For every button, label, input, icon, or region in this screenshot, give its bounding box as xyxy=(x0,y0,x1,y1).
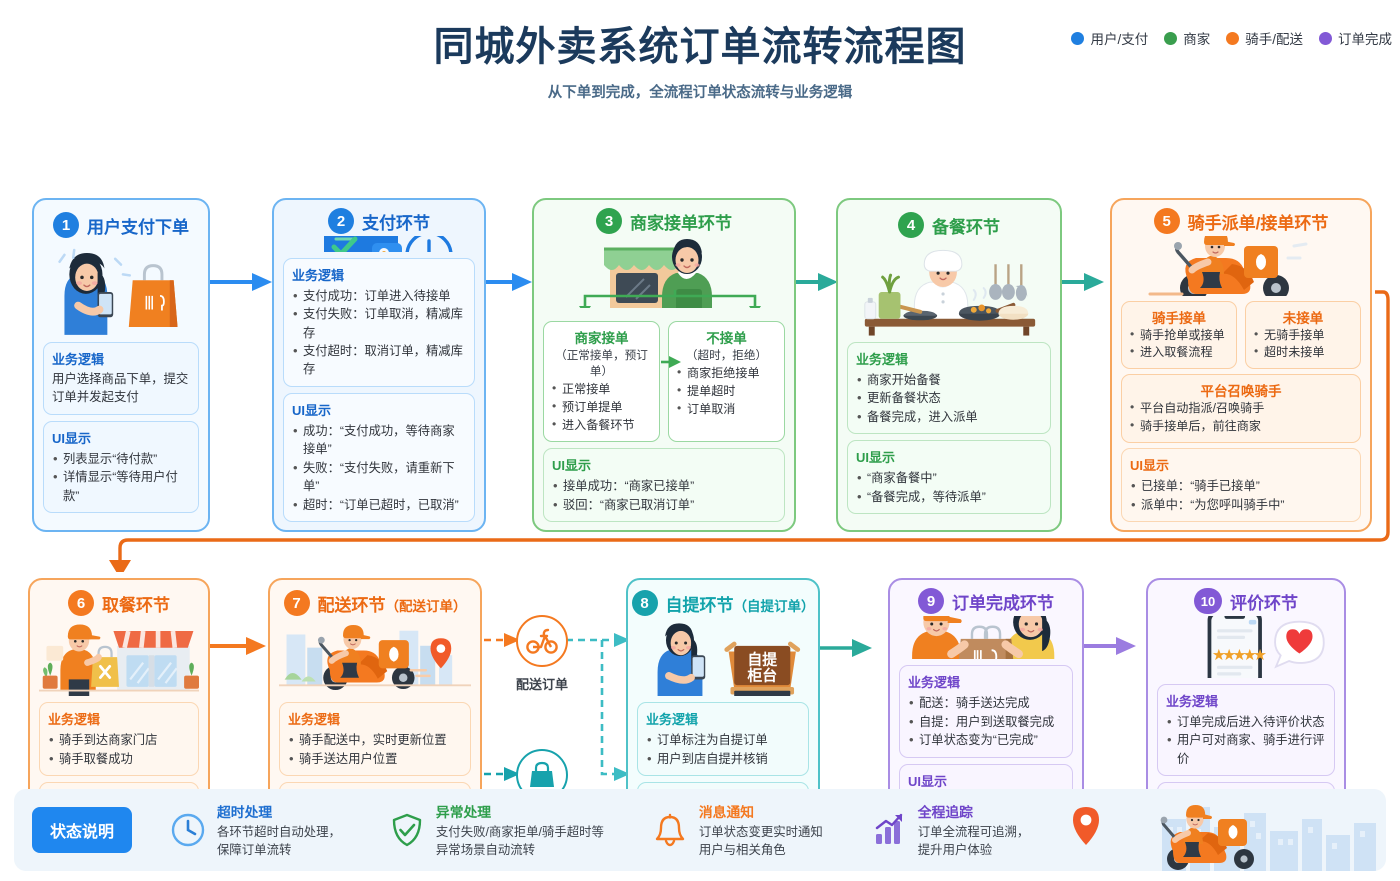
card-header: 9 订单完成环节 xyxy=(899,588,1073,614)
subbox-list: 骑手抢单或接单 进入取餐流程 xyxy=(1129,327,1229,363)
subbox-platform-call-rider[interactable]: 平台召唤骑手 平台自动指派/召唤骑手 骑手接单后，前往商家 xyxy=(1121,374,1361,443)
list-item: 用户可对商家、骑手进行评价 xyxy=(1166,731,1326,768)
list-item: 超时未接单 xyxy=(1253,344,1353,362)
legend-label: 骑手/配送 xyxy=(1245,28,1303,48)
ui-display-panel: UI显示 成功：“支付成功，等待商家接单” 失败：“支付失败，请重新下单” 超时… xyxy=(283,393,475,522)
list-item: 备餐完成，进入派单 xyxy=(856,408,1042,426)
illustration-user-ordering xyxy=(43,244,199,336)
card-title: 骑手派单/接单环节 xyxy=(1188,209,1329,234)
footer-item-desc: 订单全流程可追溯， 提升用户体验 xyxy=(918,824,1030,858)
list-item: 订单完成后进入待评价状态 xyxy=(1166,713,1326,731)
legend-item-completed: 订单完成 xyxy=(1319,28,1392,48)
card-header: 2 支付环节 xyxy=(283,208,475,234)
footer-status-bar: 状态说明 超时处理 各环节超时自动处理， 保障订单流转 异常处理 支付失败/商家… xyxy=(14,789,1386,871)
clock-icon xyxy=(170,812,206,848)
step-badge: 10 xyxy=(1194,588,1222,614)
logic-list: 配送：骑手送达完成 自提：用户到送取餐完成 订单状态变为“已完成” xyxy=(908,694,1064,749)
legend: 用户/支付 商家 骑手/配送 订单完成 xyxy=(1071,28,1392,48)
card-header: 10 评价环节 xyxy=(1157,588,1335,614)
subbox-title: 骑手接单 xyxy=(1129,307,1229,327)
list-item: 支付失败：订单取消，精减库存 xyxy=(292,305,466,342)
footer-item-desc: 各环节超时自动处理， 保障订单流转 xyxy=(217,824,341,858)
list-item: 支付成功：订单进入待接单 xyxy=(292,287,466,305)
card-title: 配送环节（配送订单） xyxy=(318,591,467,616)
step-badge: 4 xyxy=(898,212,924,238)
orange-dot-icon xyxy=(1226,32,1239,45)
illustration-chef-cooking xyxy=(847,244,1051,336)
legend-label: 用户/支付 xyxy=(1090,28,1148,48)
list-item: 订单标注为自提订单 xyxy=(646,731,800,749)
list-item: 骑手到达商家门店 xyxy=(48,731,190,749)
illustration-merchant-shop xyxy=(543,237,785,309)
list-item: “商家备餐中” xyxy=(856,469,1042,487)
list-item: 进入备餐环节 xyxy=(551,417,652,435)
status-pill[interactable]: 状态说明 xyxy=(32,807,132,853)
logic-list: 商家开始备餐 更新备餐状态 备餐完成，进入派单 xyxy=(856,371,1042,426)
panel-title: UI显示 xyxy=(52,428,190,447)
subbox-list: 商家拒绝接单 提单超时 订单取消 xyxy=(676,365,777,419)
shield-check-icon xyxy=(389,812,425,848)
list-item: 提单超时 xyxy=(676,383,777,401)
branch-label: 配送订单 xyxy=(497,674,587,693)
ui-list: 已接单：“骑手已接单” 派单中：“为您呼叫骑手中” xyxy=(1130,477,1352,514)
panel-title: UI显示 xyxy=(856,447,1042,466)
illustration-rider-scooter xyxy=(1121,236,1361,296)
business-logic-panel: 业务逻辑 支付成功：订单进入待接单 支付失败：订单取消，精减库存 支付超时：取消… xyxy=(283,258,475,387)
business-logic-panel: 业务逻辑 订单标注为自提订单 用户到店自提并核销 xyxy=(637,702,809,776)
connector-1-to-2 xyxy=(206,270,276,294)
logic-list: 骑手配送中，实时更新位置 骑手送达用户位置 xyxy=(288,731,462,768)
subbox-title: 未接单 xyxy=(1253,307,1353,327)
card-title: 支付环节 xyxy=(362,209,430,234)
panel-title: UI显示 xyxy=(552,455,776,474)
ui-display-panel: UI显示 接单成功：“商家已接单” 驳回：“商家已取消订单” xyxy=(543,448,785,522)
sign-text-2: 柜台 xyxy=(746,667,777,685)
card-title-suffix: （配送订单） xyxy=(386,599,467,614)
subbox-list: 无骑手接单 超时未接单 xyxy=(1253,327,1353,363)
card-title: 自提环节（自提订单） xyxy=(666,591,815,616)
illustration-self-pickup: 自提 柜台 xyxy=(637,620,809,696)
subbox-rider-accepted[interactable]: 骑手接单 骑手抢单或接单 进入取餐流程 xyxy=(1121,301,1237,370)
list-item: 正常接单 xyxy=(551,381,652,399)
list-item: 商家拒绝接单 xyxy=(676,365,777,383)
footer-item-title: 全程追踪 xyxy=(918,801,1030,821)
subbox-accept-order[interactable]: 商家接单 （正常接单，预订单） 正常接单 预订单提单 进入备餐环节 xyxy=(543,321,660,442)
illustration-rating-phone xyxy=(1157,616,1335,678)
card-title: 订单完成环节 xyxy=(952,589,1054,614)
panel-title: 业务逻辑 xyxy=(908,672,1064,691)
card-header: 6 取餐环节 xyxy=(39,588,199,618)
card-step-5[interactable]: 5 骑手派单/接单环节 xyxy=(1110,198,1372,532)
list-item: 骑手接单后，前往商家 xyxy=(1129,418,1353,436)
subbox-list: 平台自动指派/召唤骑手 骑手接单后，前往商家 xyxy=(1129,400,1353,436)
panel-title: 业务逻辑 xyxy=(288,709,462,728)
ui-list: “商家备餐中” “备餐完成，等待派单” xyxy=(856,469,1042,506)
list-item: 无骑手接单 xyxy=(1253,327,1353,345)
list-item: 更新备餐状态 xyxy=(856,389,1042,407)
card-header: 5 骑手派单/接单环节 xyxy=(1121,208,1361,234)
connector-2-to-3 xyxy=(486,270,536,294)
ui-list: 成功：“支付成功，等待商家接单” 失败：“支付失败，请重新下单” 超时：“订单已… xyxy=(292,422,466,514)
legend-item-rider: 骑手/配送 xyxy=(1226,28,1303,48)
list-item: 失败：“支付失败，请重新下单” xyxy=(292,459,466,496)
panel-title: 业务逻辑 xyxy=(856,349,1042,368)
card-title-suffix: （自提订单） xyxy=(734,599,815,614)
step-badge: 7 xyxy=(284,590,310,616)
list-item: 订单状态变为“已完成” xyxy=(908,731,1064,749)
step-badge: 6 xyxy=(68,590,94,616)
card-step-1[interactable]: 1 用户支付下单 xyxy=(32,198,210,532)
subbox-title: 不接单 xyxy=(676,327,777,347)
logic-list: 支付成功：订单进入待接单 支付失败：订单取消，精减库存 支付超时：取消订单，精减… xyxy=(292,287,466,379)
list-item: 进入取餐流程 xyxy=(1129,344,1229,362)
card-title-main: 配送环节 xyxy=(318,596,386,615)
ui-display-panel: UI显示 已接单：“骑手已接单” 派单中：“为您呼叫骑手中” xyxy=(1121,448,1361,522)
list-item: 列表显示“待付款” xyxy=(52,450,190,468)
card-step-2[interactable]: 2 支付环节 业务逻辑 xyxy=(272,198,486,532)
logic-list: 订单完成后进入待评价状态 用户可对商家、骑手进行评价 xyxy=(1166,713,1326,768)
step-badge: 9 xyxy=(918,588,944,614)
card-title: 用户支付下单 xyxy=(87,213,189,238)
business-logic-panel: 业务逻辑 订单完成后进入待评价状态 用户可对商家、骑手进行评价 xyxy=(1157,684,1335,776)
bar-chart-icon xyxy=(871,812,907,848)
list-item: 平台自动指派/召唤骑手 xyxy=(1129,400,1353,418)
business-logic-panel: 业务逻辑 骑手配送中，实时更新位置 骑手送达用户位置 xyxy=(279,702,471,776)
card-header: 7 配送环节（配送订单） xyxy=(279,588,471,618)
card-header: 1 用户支付下单 xyxy=(43,208,199,242)
footer-item-title: 消息通知 xyxy=(699,801,823,821)
panel-title: 业务逻辑 xyxy=(48,709,190,728)
business-logic-panel: 业务逻辑 用户选择商品下单，提交订单并发起支付 xyxy=(43,342,199,415)
footer-item-title: 超时处理 xyxy=(217,801,341,821)
subbox-list: 正常接单 预订单提单 进入备餐环节 xyxy=(551,381,652,435)
rider-decision-row: 骑手接单 骑手抢单或接单 进入取餐流程 未接单 无骑手接单 超时未接单 xyxy=(1121,301,1361,370)
list-item: 配送：骑手送达完成 xyxy=(908,694,1064,712)
merchant-decision-row: 商家接单 （正常接单，预订单） 正常接单 预订单提单 进入备餐环节 不接单 （超… xyxy=(543,321,785,442)
card-header: 3 商家接单环节 xyxy=(543,208,785,235)
flowchart-board: 1 用户支付下单 xyxy=(0,92,1400,792)
list-item: 商家开始备餐 xyxy=(856,371,1042,389)
subbox-subtitle: （正常接单，预订单） xyxy=(551,347,652,379)
panel-title: 业务逻辑 xyxy=(1166,691,1326,710)
list-item: 派单中：“为您呼叫骑手中” xyxy=(1130,496,1352,514)
card-title: 取餐环节 xyxy=(102,591,170,616)
list-item: 详情显示“等待用户付款” xyxy=(52,468,190,505)
business-logic-panel: 业务逻辑 商家开始备餐 更新备餐状态 备餐完成，进入派单 xyxy=(847,342,1051,434)
panel-title: UI显示 xyxy=(1130,455,1352,474)
step-badge: 8 xyxy=(632,590,658,616)
ui-list: 列表显示“待付款” 详情显示“等待用户付款” xyxy=(52,450,190,505)
business-logic-panel: 业务逻辑 配送：骑手送达完成 自提：用户到送取餐完成 订单状态变为“已完成” xyxy=(899,665,1073,757)
card-header: 8 自提环节（自提订单） xyxy=(637,588,809,618)
card-title-main: 自提环节 xyxy=(666,596,734,615)
green-dot-icon xyxy=(1164,32,1177,45)
list-item: 成功：“支付成功，等待商家接单” xyxy=(292,422,466,459)
illustration-delivering xyxy=(279,620,471,696)
card-title: 评价环节 xyxy=(1230,589,1298,614)
blue-dot-icon xyxy=(1071,32,1084,45)
footer-item-title: 异常处理 xyxy=(436,801,604,821)
card-step-4[interactable]: 4 备餐环节 xyxy=(836,198,1062,532)
legend-item-user: 用户/支付 xyxy=(1071,28,1148,48)
list-item: 用户到店自提并核销 xyxy=(646,750,800,768)
legend-item-merchant: 商家 xyxy=(1164,28,1210,48)
card-title: 商家接单环节 xyxy=(630,209,732,234)
list-item: 接单成功：“商家已接单” xyxy=(552,477,776,495)
list-item: 骑手配送中，实时更新位置 xyxy=(288,731,462,749)
connector-6-to-7 xyxy=(208,634,270,658)
subbox-title: 商家接单 xyxy=(551,327,652,347)
legend-label: 订单完成 xyxy=(1338,28,1392,48)
subbox-subtitle: （超时，拒绝） xyxy=(676,347,777,363)
illustration-rider-pickup xyxy=(39,620,199,696)
illustration-order-handoff xyxy=(899,616,1073,659)
list-item: 驳回：“商家已取消订单” xyxy=(552,496,776,514)
footer-item-notify: 消息通知 订单状态变更实时通知 用户与相关角色 xyxy=(652,801,823,858)
footer-item-timeout: 超时处理 各环节超时自动处理， 保障订单流转 xyxy=(170,801,341,858)
list-item: 超时：“订单已超时，已取消” xyxy=(292,496,466,514)
footer-item-desc: 订单状态变更实时通知 用户与相关角色 xyxy=(699,824,823,858)
card-step-3[interactable]: 3 商家接单环节 xyxy=(532,198,796,532)
page-header: 同城外卖系统订单流转流程图 从下单到完成，全流程订单状态流转与业务逻辑 用户/支… xyxy=(0,0,1400,92)
list-item: 自提：用户到送取餐完成 xyxy=(908,713,1064,731)
subbox-rider-not-accepted[interactable]: 未接单 无骑手接单 超时未接单 xyxy=(1245,301,1361,370)
ui-display-panel: UI显示 “商家备餐中” “备餐完成，等待派单” xyxy=(847,440,1051,514)
card-header: 4 备餐环节 xyxy=(847,208,1051,242)
subbox-reject-order[interactable]: 不接单 （超时，拒绝） 商家拒绝接单 提单超时 订单取消 xyxy=(668,321,785,442)
business-logic-panel: 业务逻辑 骑手到达商家门店 骑手取餐成功 xyxy=(39,702,199,776)
list-item: 骑手取餐成功 xyxy=(48,750,190,768)
bell-icon xyxy=(652,812,688,848)
connector-3-to-4 xyxy=(790,270,842,294)
footer-item-desc: 支付失败/商家拒单/骑手超时等 异常场景自动流转 xyxy=(436,824,604,858)
subbox-title: 平台召唤骑手 xyxy=(1129,380,1353,400)
card-title: 备餐环节 xyxy=(932,213,1000,238)
list-item: 已接单：“骑手已接单” xyxy=(1130,477,1352,495)
purple-dot-icon xyxy=(1319,32,1332,45)
list-item: “备餐完成，等待派单” xyxy=(856,488,1042,506)
list-item: 预订单提单 xyxy=(551,399,652,417)
logic-list: 骑手到达商家门店 骑手取餐成功 xyxy=(48,731,190,768)
connector-8-to-9 xyxy=(816,622,878,662)
list-item: 骑手抢单或接单 xyxy=(1129,327,1229,345)
ui-list: 接单成功：“商家已接单” 驳回：“商家已取消订单” xyxy=(552,477,776,514)
scooter-icon xyxy=(516,615,568,667)
list-item: 支付超时：取消订单，精减库存 xyxy=(292,342,466,379)
connector-9-to-10 xyxy=(1080,634,1142,658)
list-item: 骑手送达用户位置 xyxy=(288,750,462,768)
step-badge: 1 xyxy=(53,212,79,238)
step-badge: 3 xyxy=(596,208,622,234)
panel-title: 业务逻辑 xyxy=(646,709,800,728)
panel-title: 业务逻辑 xyxy=(52,349,190,368)
step-badge: 2 xyxy=(328,208,354,234)
panel-title: UI显示 xyxy=(292,400,466,419)
legend-label: 商家 xyxy=(1183,28,1210,48)
step-badge: 5 xyxy=(1154,208,1180,234)
panel-title: 业务逻辑 xyxy=(292,265,466,284)
branch-delivery-order[interactable]: 配送订单 xyxy=(497,615,587,693)
footer-city-rider-illustration xyxy=(1050,789,1380,871)
footer-item-tracking: 全程追踪 订单全流程可追溯， 提升用户体验 xyxy=(871,801,1030,858)
panel-text: 用户选择商品下单，提交订单并发起支付 xyxy=(52,371,190,407)
logic-list: 订单标注为自提订单 用户到店自提并核销 xyxy=(646,731,800,768)
ui-display-panel: UI显示 列表显示“待付款” 详情显示“等待用户付款” xyxy=(43,421,199,513)
illustration-payment xyxy=(283,236,475,252)
list-item: 订单取消 xyxy=(676,401,777,419)
panel-title: UI显示 xyxy=(908,771,1064,790)
footer-item-exception: 异常处理 支付失败/商家拒单/骑手超时等 异常场景自动流转 xyxy=(389,801,604,858)
